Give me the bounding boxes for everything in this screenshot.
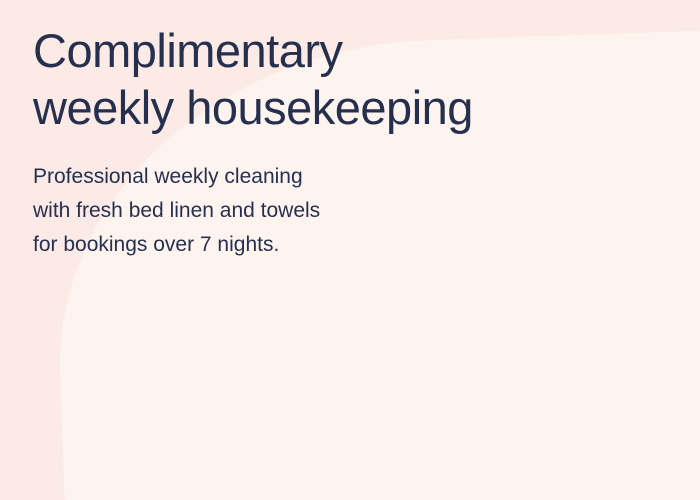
banner-subtext: Professional weekly cleaning with fresh … [33,160,463,262]
subtext-line-2: with fresh bed linen and towels [33,194,463,228]
headline-line-2: weekly housekeeping [33,79,633,136]
page-title: Complimentary weekly housekeeping [33,22,633,137]
headline-line-1: Complimentary [33,22,633,79]
subtext-line-1: Professional weekly cleaning [33,160,463,194]
subtext-line-3: for bookings over 7 nights. [33,228,463,262]
promo-banner: Complimentary weekly housekeeping Profes… [0,0,700,500]
